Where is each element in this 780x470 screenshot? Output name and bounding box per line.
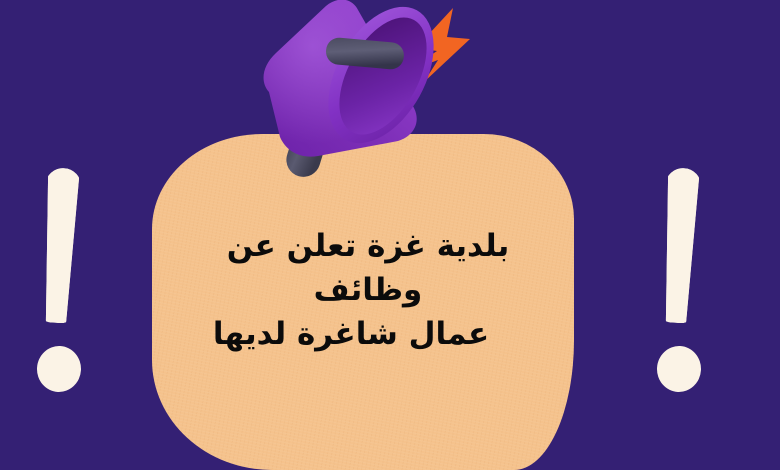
exclamation-bar-right [658,167,702,324]
headline-text: بلدية غزة تعلن عن وظائف عمال شاغرة لديها [176,224,560,356]
exclamation-dot-right [656,345,702,393]
exclamation-bar-left [38,167,82,324]
exclamation-dot-left [36,345,82,393]
exclamation-mark-left [15,168,105,418]
megaphone-icon [248,0,498,201]
headline-line-1: بلدية غزة تعلن عن وظائف [176,224,560,312]
headline-line-2: عمال شاغرة لديها [176,312,560,356]
announcement-poster: بلدية غزة تعلن عن وظائف عمال شاغرة لديها [0,0,780,470]
exclamation-mark-right [635,168,725,418]
